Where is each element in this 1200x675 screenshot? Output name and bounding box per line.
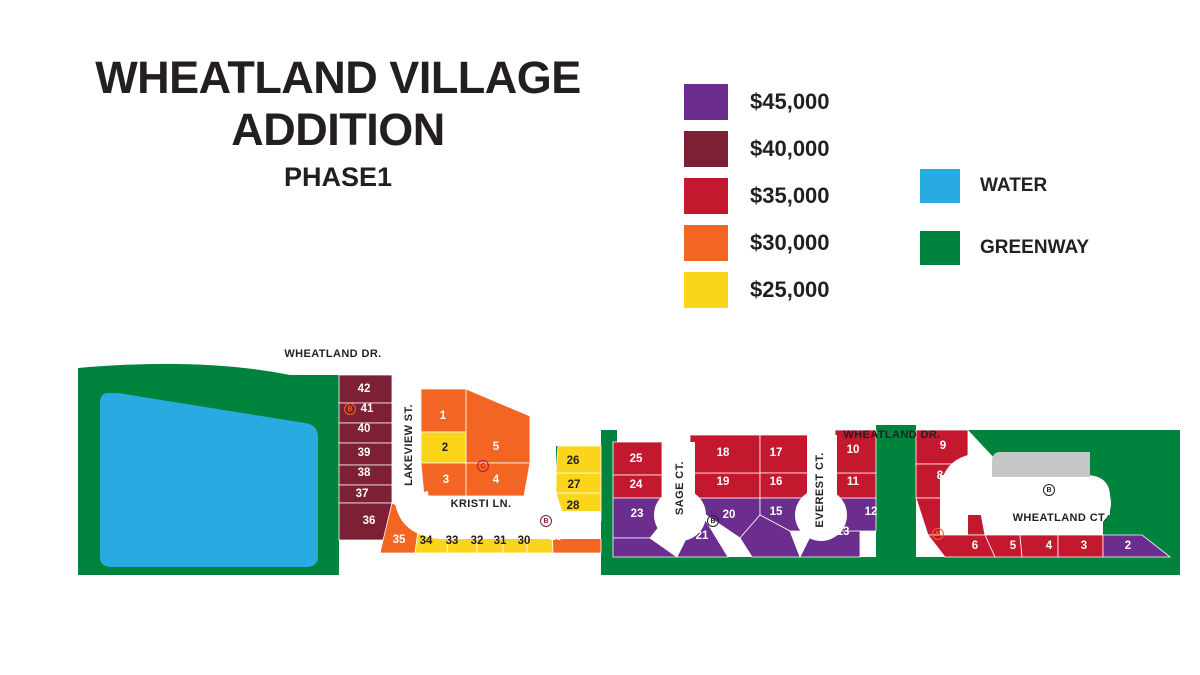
street-label-wheatland-ct: WHEATLAND CT. — [1013, 512, 1108, 524]
lot-label-40: 40 — [358, 423, 371, 435]
svg-text:B: B — [935, 531, 940, 538]
lot-4[interactable] — [1020, 535, 1058, 557]
lot-label-23: 23 — [631, 508, 644, 520]
lot-6[interactable] — [928, 535, 995, 557]
feature-legend: WATER GREENWAY — [920, 155, 1089, 279]
lot-label-41: 41 — [361, 403, 374, 415]
lot-label-27: 27 — [568, 479, 581, 491]
site-map[interactable]: WHEATLAND DR.LAKEVIEW ST.KRISTI LN.SAGE … — [0, 325, 1200, 600]
legend-label-45000: $45,000 — [750, 89, 830, 115]
street-label-sage-ct: SAGE CT. — [674, 461, 686, 515]
lot-label-12: 12 — [865, 506, 878, 518]
lot-label-22: 22 — [653, 532, 666, 544]
price-legend: $45,000 $40,000 $35,000 $30,000 $25,000 — [684, 78, 830, 313]
lot-label-42: 42 — [358, 383, 371, 395]
legend-swatch-water — [920, 169, 960, 203]
lot-label-26: 26 — [567, 455, 580, 467]
lot-22[interactable] — [613, 538, 677, 557]
lot-label-29: 29 — [550, 531, 563, 543]
amenity-pad-gray — [992, 452, 1090, 477]
legend-label-greenway: GREENWAY — [980, 237, 1089, 259]
legend-label-40000: $40,000 — [750, 136, 830, 162]
lot-16[interactable] — [760, 473, 813, 498]
lot-label-14: 14 — [793, 532, 806, 544]
legend-label-30000: $30,000 — [750, 230, 830, 256]
lot-label-21: 21 — [696, 530, 709, 542]
lot-label-33: 33 — [446, 535, 459, 547]
lot-label-9: 9 — [940, 440, 946, 452]
title-phase: PHASE1 — [88, 162, 588, 193]
lot-label-39: 39 — [358, 447, 371, 459]
svg-text:B: B — [1046, 487, 1051, 494]
lot-label-6: 6 — [972, 540, 978, 552]
svg-text:B: B — [543, 518, 548, 525]
street-label-wheatland-dr: WHEATLAND DR. — [284, 348, 381, 360]
lot-label-17: 17 — [770, 447, 783, 459]
lot-label-5: 5 — [493, 441, 500, 453]
legend-swatch-25000 — [684, 272, 728, 308]
lot-label-4: 4 — [493, 474, 500, 486]
legend-swatch-40000 — [684, 131, 728, 167]
lot-label-10: 10 — [847, 444, 860, 456]
lot-label-8: 8 — [937, 470, 944, 482]
legend-item-greenway: GREENWAY — [920, 217, 1089, 279]
legend-label-35000: $35,000 — [750, 183, 830, 209]
svg-text:C: C — [480, 463, 485, 470]
svg-text:B: B — [710, 518, 715, 525]
legend-item-water: WATER — [920, 155, 1089, 217]
lot-label-35: 35 — [393, 534, 406, 546]
lot-label-2: 2 — [1125, 540, 1131, 552]
lot-label-25: 25 — [630, 453, 643, 465]
lot-label-20: 20 — [723, 509, 736, 521]
lot-label-38: 38 — [358, 467, 371, 479]
lot-label-16: 16 — [770, 476, 783, 488]
street-label-kristi-ln: KRISTI LN. — [451, 498, 512, 510]
legend-label-25000: $25,000 — [750, 277, 830, 303]
legend-item-0: $45,000 — [684, 78, 830, 125]
title-line-2: ADDITION — [88, 104, 588, 156]
street-label-wheatland-dr: WHEATLAND DR. — [843, 429, 940, 441]
page-title: WHEATLAND VILLAGE ADDITION PHASE1 — [88, 52, 588, 193]
legend-swatch-greenway — [920, 231, 960, 265]
lot-label-24: 24 — [630, 479, 643, 491]
lot-label-3: 3 — [443, 474, 449, 486]
lot-label-19: 19 — [717, 476, 730, 488]
lot-label-11: 11 — [847, 476, 860, 488]
lot-label-34: 34 — [420, 535, 433, 547]
lot-label-3: 3 — [1081, 540, 1087, 552]
lot-label-4: 4 — [1046, 540, 1053, 552]
svg-text:B: B — [347, 406, 352, 413]
lot-label-30: 30 — [518, 535, 531, 547]
lot-label-31: 31 — [494, 535, 507, 547]
lot-label-1: 1 — [440, 410, 447, 422]
lot-label-28: 28 — [567, 500, 580, 512]
title-line-1: WHEATLAND VILLAGE — [88, 52, 588, 104]
street-label-lakeview-st: LAKEVIEW ST. — [403, 404, 415, 486]
lot-label-2: 2 — [442, 442, 448, 454]
legend-swatch-45000 — [684, 84, 728, 120]
lot-label-36: 36 — [363, 515, 376, 527]
lot-label-15: 15 — [770, 506, 783, 518]
legend-item-4: $25,000 — [684, 266, 830, 313]
lot-label-5: 5 — [1010, 540, 1017, 552]
legend-label-water: WATER — [980, 175, 1047, 197]
legend-item-3: $30,000 — [684, 219, 830, 266]
lot-label-7: 7 — [953, 501, 959, 513]
site-plan-page: WHEATLAND VILLAGE ADDITION PHASE1 $45,00… — [0, 0, 1200, 675]
legend-swatch-30000 — [684, 225, 728, 261]
legend-item-1: $40,000 — [684, 125, 830, 172]
legend-swatch-35000 — [684, 178, 728, 214]
lot-label-37: 37 — [356, 488, 369, 500]
lot-label-18: 18 — [717, 447, 730, 459]
lot-label-13: 13 — [837, 526, 850, 538]
lot-17[interactable] — [760, 435, 813, 473]
legend-item-2: $35,000 — [684, 172, 830, 219]
lot-label-32: 32 — [471, 535, 484, 547]
street-label-everest-ct: EVEREST CT. — [814, 452, 826, 527]
